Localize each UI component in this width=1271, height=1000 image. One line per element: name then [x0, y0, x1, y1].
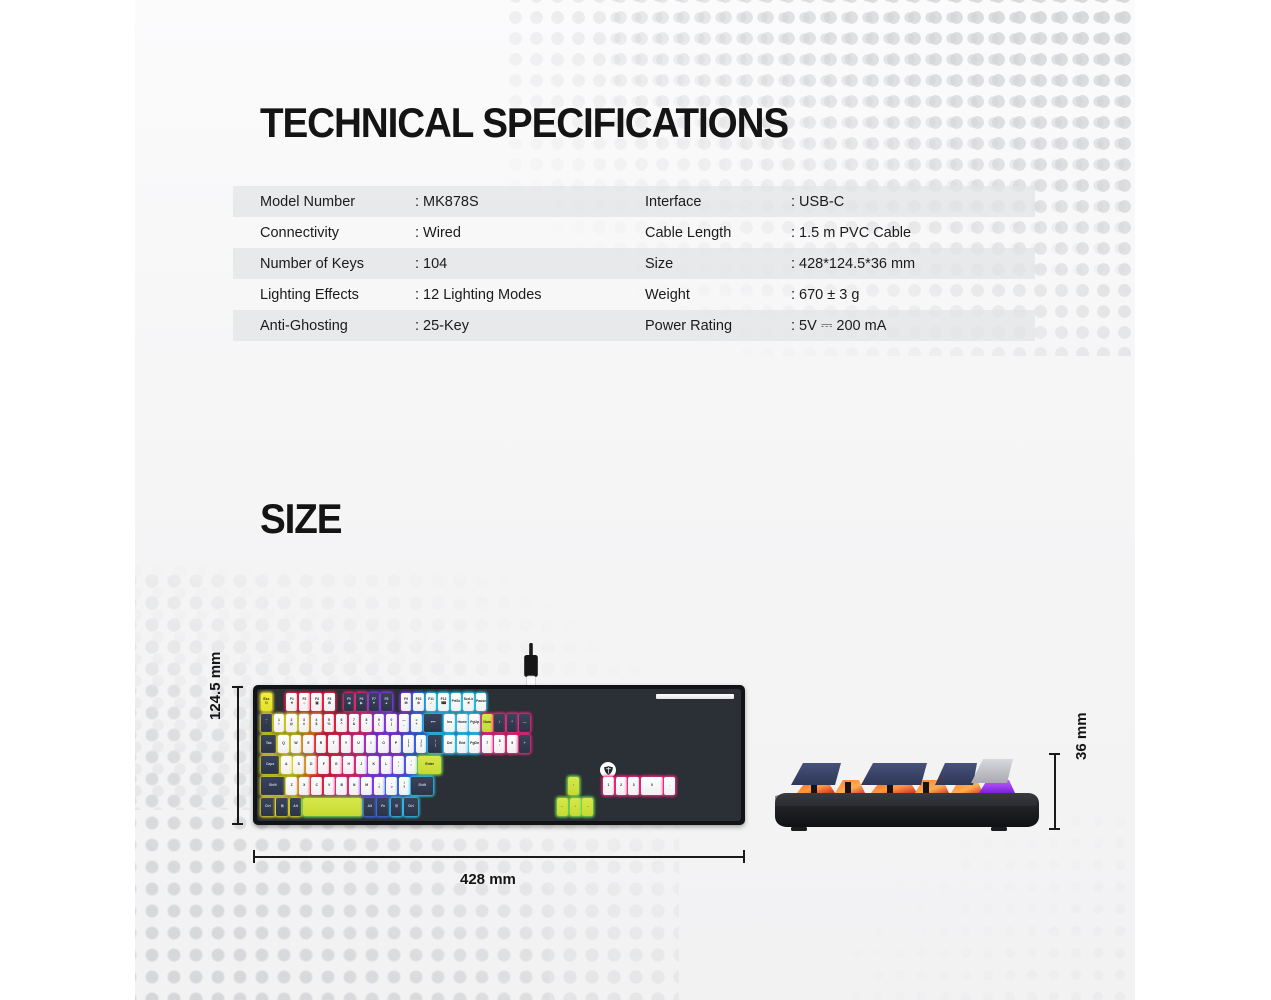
- keycap-legend: —: [523, 721, 526, 725]
- keycap-legend: J: [360, 763, 362, 767]
- numpad-key[interactable]: 1: [603, 777, 614, 795]
- keycap-sublegend: ▲: [385, 702, 388, 706]
- keycap-legend: +: [524, 742, 526, 746]
- keycap-sublegend: ✳: [467, 702, 470, 706]
- depth-dimension-cap-bottom: [1049, 828, 1060, 830]
- keycap[interactable]: /?: [399, 777, 410, 795]
- keycap[interactable]: 6^: [336, 714, 347, 732]
- keycap[interactable]: 7: [482, 735, 493, 753]
- keycap-legend: Alt: [293, 805, 298, 809]
- keyboard-row: ShiftZXCVBNM,<.>/?Shift: [261, 777, 433, 795]
- keycap-legend: 0: [651, 784, 653, 788]
- height-dimension-label: 124.5 mm: [207, 652, 224, 720]
- keycap[interactable]: 7&: [349, 714, 360, 732]
- keycap[interactable]: \|: [428, 735, 443, 753]
- keycap[interactable]: V: [324, 777, 335, 795]
- keycap[interactable]: PgUp: [469, 714, 480, 732]
- keycap[interactable]: ☰: [391, 798, 403, 816]
- keycap[interactable]: *: [507, 714, 518, 732]
- spec-label-left: Lighting Effects: [233, 287, 415, 303]
- keycap-legend: ☰: [395, 805, 398, 809]
- keycap-legend: Shift: [418, 784, 426, 788]
- keycap-legend: X: [303, 784, 305, 788]
- keycap-legend: G: [335, 763, 338, 767]
- keycap-legend: Fn: [381, 805, 385, 809]
- keycap-sublegend: %: [327, 723, 330, 727]
- keycap[interactable]: G: [331, 756, 342, 774]
- keycap-legend: Num: [483, 721, 491, 725]
- keycap-legend: E: [307, 742, 309, 746]
- keycap[interactable]: ⟵: [424, 714, 443, 732]
- keycap-sublegend: ⌨: [441, 702, 446, 706]
- keycap[interactable]: —_: [399, 714, 410, 732]
- keyboard-row: CapsASDFGHJKL;:'"Enter: [261, 756, 441, 774]
- height-dimension-line: [237, 686, 239, 825]
- keycap-legend: ←: [561, 805, 564, 809]
- keyboard-plate: Esc⎋F1☀F2☼F3▣F4✇F5◀F6▶F7▼F8▲F9✉F10⊘F11♪F…: [257, 689, 741, 821]
- keycap-legend: O: [382, 742, 385, 746]
- keycap-legend: Enter: [425, 763, 434, 767]
- product-spec-page: TECHNICAL SPECIFICATIONS SIZE Model Numb…: [0, 0, 1271, 1000]
- spec-label-right: Interface: [634, 194, 791, 210]
- keycap[interactable]: F6▶: [356, 693, 367, 711]
- specifications-table: Model Number: MK878SInterface: USB-CConn…: [233, 186, 1035, 341]
- keycap[interactable]: F12⌨: [438, 693, 449, 711]
- keycap-sublegend: ✇: [328, 702, 331, 706]
- spec-label-left: Connectivity: [233, 225, 415, 241]
- keycap-legend: U: [357, 742, 359, 746]
- spec-value-right: : 1.5 m PVC Cable: [791, 225, 1035, 241]
- keycap[interactable]: 4$: [311, 714, 322, 732]
- width-dimension-cap-right: [743, 850, 745, 863]
- keycap-sublegend: >: [391, 786, 393, 790]
- spec-value-right: : 5V ⎓ 200 mA: [791, 318, 1035, 334]
- keycap[interactable]: ScrLk✳: [463, 693, 474, 711]
- keycap-sublegend: (: [378, 723, 379, 727]
- keycap[interactable]: ]}: [416, 735, 427, 753]
- keycap-legend: I: [371, 742, 372, 746]
- keycap-legend: Q: [282, 742, 285, 746]
- content-panel: TECHNICAL SPECIFICATIONS SIZE Model Numb…: [135, 0, 1135, 1000]
- keycap[interactable]: F8▲: [381, 693, 392, 711]
- keycap-legend: K: [373, 763, 375, 767]
- spec-label-left: Anti-Ghosting: [233, 318, 415, 334]
- keycap-legend: Tab: [266, 742, 272, 746]
- keycap[interactable]: Ctrl: [261, 798, 275, 816]
- depth-dimension-line: [1054, 753, 1056, 830]
- keycap-sublegend: ↑: [499, 744, 501, 748]
- keycap[interactable]: Fn: [377, 798, 389, 816]
- height-dimension-cap-top: [232, 686, 243, 688]
- keycap[interactable]: 2@: [286, 714, 297, 732]
- keycap[interactable]: F10⊘: [413, 693, 424, 711]
- keycap[interactable]: Z: [286, 777, 297, 795]
- spec-value-right: : 428*124.5*36 mm: [791, 256, 1035, 272]
- spec-row: Anti-Ghosting: 25-KeyPower Rating: 5V ⎓ …: [233, 310, 1035, 341]
- keycap[interactable]: 9(: [374, 714, 385, 732]
- keycap[interactable]: S: [293, 756, 304, 774]
- keycap[interactable]: Esc⎋: [261, 693, 272, 711]
- keycap-legend: Pause: [476, 700, 486, 704]
- keycap-sublegend: ⊘: [417, 702, 420, 706]
- keycap[interactable]: H: [343, 756, 354, 774]
- keycap-legend: W: [294, 742, 297, 746]
- keycap[interactable]: X: [299, 777, 310, 795]
- keycap-legend: M: [365, 784, 368, 788]
- keycap[interactable]: Caps: [261, 756, 279, 774]
- keycap-legend: H: [348, 763, 350, 767]
- keycap[interactable]: P: [391, 735, 402, 753]
- spec-label-right: Size: [634, 256, 791, 272]
- keycap-sublegend: ▼: [372, 702, 375, 706]
- keycap-legend: PrtSc: [452, 700, 461, 704]
- spec-value-right: : USB-C: [791, 194, 1035, 210]
- keycap-legend: Shift: [269, 784, 277, 788]
- arrow-key[interactable]: →: [582, 798, 593, 816]
- keycap-legend: R: [320, 742, 322, 746]
- led-indicator-strip: [656, 694, 734, 699]
- keycap[interactable]: Ctrl: [404, 798, 418, 816]
- keycap-legend: →: [586, 805, 589, 809]
- keycap[interactable]: .>: [386, 777, 397, 795]
- keycap[interactable]: ⊞: [276, 798, 288, 816]
- keycap[interactable]: PrtSc: [451, 693, 462, 711]
- numpad-key[interactable]: 0: [641, 777, 663, 795]
- keycap[interactable]: ;:: [393, 756, 404, 774]
- keycap[interactable]: F5◀: [344, 693, 355, 711]
- keycap[interactable]: 3#: [299, 714, 310, 732]
- numpad-key[interactable]: 2: [616, 777, 627, 795]
- keyboard-row: TabQWERTYUIOP[{]}\|DelEndPgDn78↑9+: [261, 735, 530, 753]
- spec-value-left: : Wired: [415, 225, 634, 241]
- keycap[interactable]: Num: [482, 714, 493, 732]
- keycap-sublegend: ": [410, 765, 412, 769]
- spec-label-right: Power Rating: [634, 318, 791, 334]
- keycap-legend: 2: [620, 784, 622, 788]
- keycap[interactable]: T: [328, 735, 339, 753]
- keycap[interactable]: ~`: [261, 714, 272, 732]
- width-dimension-label: 428 mm: [460, 871, 516, 888]
- keycap-legend: D: [310, 763, 312, 767]
- keycap-legend: PgUp: [470, 721, 479, 725]
- keycap[interactable]: F: [318, 756, 329, 774]
- keycap[interactable]: N: [349, 777, 360, 795]
- spec-label-right: Weight: [634, 287, 791, 303]
- spec-value-right: : 670 ± 3 g: [791, 287, 1035, 303]
- keycap[interactable]: =+: [411, 714, 422, 732]
- keycap[interactable]: 1!: [274, 714, 285, 732]
- keycap[interactable]: W: [291, 735, 302, 753]
- keycap[interactable]: Del: [444, 735, 455, 753]
- keycap-sublegend: {: [408, 744, 409, 748]
- keycap-legend: Del: [447, 742, 452, 746]
- keycap-sublegend: ▶: [360, 702, 363, 706]
- keycap[interactable]: +: [519, 735, 530, 753]
- keycap-legend: C: [315, 784, 317, 788]
- keycap-legend: Z: [291, 784, 293, 788]
- keycap-legend: F: [323, 763, 325, 767]
- spec-label-right: Cable Length: [634, 225, 791, 241]
- keycap-sublegend: <: [378, 786, 380, 790]
- spec-row: Lighting Effects: 12 Lighting ModesWeigh…: [233, 279, 1035, 310]
- keycap[interactable]: F1☀: [286, 693, 297, 711]
- keycap-sublegend: ☼: [303, 702, 306, 706]
- keycap-legend: ↓: [574, 805, 576, 809]
- keycap-legend: V: [328, 784, 330, 788]
- keycap[interactable]: F2☼: [299, 693, 310, 711]
- keycap-legend: T: [332, 742, 334, 746]
- numpad-row: 1230.: [603, 777, 675, 795]
- keycap[interactable]: Shift: [261, 777, 285, 795]
- arrow-key[interactable]: ↑: [568, 777, 579, 795]
- keycap-sublegend: ☀: [290, 702, 293, 706]
- depth-dimension-cap-top: [1049, 753, 1060, 755]
- keycap-legend: 9: [511, 742, 513, 746]
- spec-row: Number of Keys: 104Size: 428*124.5*36 mm: [233, 248, 1035, 279]
- keycap[interactable]: L: [381, 756, 392, 774]
- keycap-legend: 3: [633, 784, 635, 788]
- keycap-sublegend: ▣: [315, 702, 318, 706]
- keycap[interactable]: U: [353, 735, 364, 753]
- keycap-sublegend: #: [303, 723, 305, 727]
- width-dimension-cap-left: [253, 850, 255, 863]
- keycap-sublegend: @: [290, 723, 293, 727]
- keycap-sublegend: $: [316, 723, 318, 727]
- keycap-legend: N: [353, 784, 355, 788]
- keycap[interactable]: C: [311, 777, 322, 795]
- keycap-legend: L: [385, 763, 387, 767]
- keycap-legend: P: [395, 742, 397, 746]
- keycap[interactable]: K: [368, 756, 379, 774]
- keycap[interactable]: 8*: [361, 714, 372, 732]
- keycap[interactable]: Alt: [290, 798, 302, 816]
- keycap-legend: *: [511, 721, 512, 725]
- keycap-sublegend: ✉: [405, 702, 408, 706]
- keyboard-row: ~`1!2@3#4$5%6^7&8*9(0)—_=+⟵InsHomePgUpNu…: [261, 714, 530, 732]
- keycap[interactable]: F11♪: [426, 693, 437, 711]
- keycap[interactable]: M: [361, 777, 372, 795]
- keycap-legend: ⟵: [431, 721, 436, 725]
- numpad-key[interactable]: 3: [628, 777, 639, 795]
- keycap-legend: .: [669, 784, 670, 788]
- keycap-sublegend: *: [366, 723, 367, 727]
- keyboard-side-view: [775, 745, 1045, 845]
- keycap[interactable]: Home: [457, 714, 468, 732]
- keycap[interactable]: —: [519, 714, 530, 732]
- keyboard-row: Esc⎋F1☀F2☼F3▣F4✇F5◀F6▶F7▼F8▲F9✉F10⊘F11♪F…: [261, 693, 486, 711]
- keycap[interactable]: O: [378, 735, 389, 753]
- spec-value-left: : 104: [415, 256, 634, 272]
- keycap[interactable]: 5%: [324, 714, 335, 732]
- spec-row: Connectivity: WiredCable Length: 1.5 m P…: [233, 217, 1035, 248]
- keycap-sublegend: +: [415, 723, 417, 727]
- keycap[interactable]: Pause: [476, 693, 487, 711]
- keycap[interactable]: F3▣: [311, 693, 322, 711]
- keycap[interactable]: Tab: [261, 735, 276, 753]
- size-heading: SIZE: [260, 495, 341, 543]
- keycap-legend: 1: [608, 784, 610, 788]
- keyboard-top-view: Esc⎋F1☀F2☼F3▣F4✇F5◀F6▶F7▼F8▲F9✉F10⊘F11♪F…: [253, 685, 745, 825]
- keycap[interactable]: B: [336, 777, 347, 795]
- keycap-sublegend: ♪: [430, 702, 432, 706]
- spec-label-left: Number of Keys: [233, 256, 415, 272]
- keycap-legend: Caps: [266, 763, 274, 767]
- arrow-key[interactable]: ↓: [570, 798, 581, 816]
- keycap-sublegend: _: [403, 723, 405, 727]
- keycap[interactable]: Shift: [411, 777, 433, 795]
- keycap[interactable]: A: [281, 756, 292, 774]
- keycap-sublegend: }: [420, 744, 421, 748]
- keycap-legend: Home: [457, 721, 466, 725]
- keycap-legend: Ctrl: [265, 805, 271, 809]
- keycap[interactable]: E: [303, 735, 314, 753]
- keycap-legend: Alt: [367, 805, 372, 809]
- keycap-sublegend: ◀: [348, 702, 351, 706]
- depth-dimension-label: 36 mm: [1073, 712, 1090, 760]
- spec-value-left: : MK878S: [415, 194, 634, 210]
- keycap[interactable]: 0): [386, 714, 397, 732]
- height-dimension-cap-bottom: [232, 823, 243, 825]
- arrow-key[interactable]: ←: [557, 798, 568, 816]
- keycap[interactable]: F7▼: [369, 693, 380, 711]
- keycap-legend: ⊞: [281, 805, 284, 809]
- spec-value-left: : 25-Key: [415, 318, 634, 334]
- keycap-sublegend: ): [391, 723, 392, 727]
- keycap-legend: Ctrl: [408, 805, 414, 809]
- keycap[interactable]: F9✉: [401, 693, 412, 711]
- keycap-sublegend: `: [266, 723, 267, 727]
- keycap[interactable]: D: [306, 756, 317, 774]
- keycap-legend: Ins: [447, 721, 452, 725]
- keycap[interactable]: 8↑: [494, 735, 505, 753]
- keycap-legend: A: [285, 763, 287, 767]
- numpad-key[interactable]: .: [664, 777, 675, 795]
- keycap-sublegend: &: [353, 723, 355, 727]
- keycap-sublegend: !: [278, 723, 279, 727]
- keycap-legend: S: [298, 763, 300, 767]
- keycap[interactable]: Q: [278, 735, 289, 753]
- keycap[interactable]: Enter: [418, 756, 441, 774]
- technical-specifications-heading: TECHNICAL SPECIFICATIONS: [260, 99, 788, 147]
- brand-shield-logo-icon: [600, 762, 616, 778]
- spec-row: Model Number: MK878SInterface: USB-C: [233, 186, 1035, 217]
- keycap[interactable]: J: [356, 756, 367, 774]
- keycap[interactable]: '": [406, 756, 417, 774]
- keycap-sublegend: ⎋: [265, 702, 268, 706]
- arrow-up-key-wrap: ↑: [568, 777, 579, 795]
- arrow-key-cluster: ←↓→: [557, 798, 593, 816]
- keycap[interactable]: PgDn: [469, 735, 480, 753]
- keycap[interactable]: /: [494, 714, 505, 732]
- keycap-sublegend: ?: [403, 786, 405, 790]
- keycap-legend: PgDn: [470, 742, 479, 746]
- keycap-sublegend: |: [435, 744, 436, 748]
- keycap[interactable]: R: [316, 735, 327, 753]
- keycap-legend: /: [499, 721, 500, 725]
- keycap[interactable]: I: [366, 735, 377, 753]
- keycap[interactable]: ,<: [374, 777, 385, 795]
- keycap[interactable]: Y: [341, 735, 352, 753]
- keycap-legend: Y: [345, 742, 347, 746]
- keycap-sublegend: :: [398, 765, 399, 769]
- keycap[interactable]: [{: [403, 735, 414, 753]
- keycap-legend: 7: [486, 742, 488, 746]
- keycap[interactable]: End: [457, 735, 468, 753]
- keycap[interactable]: Ins: [444, 714, 455, 732]
- keycap[interactable]: F4✇: [324, 693, 335, 711]
- keycap-legend: B: [340, 784, 342, 788]
- spec-label-left: Model Number: [233, 194, 415, 210]
- keyboard-row: Ctrl⊞AltAltFn☰Ctrl: [261, 798, 418, 816]
- keycap[interactable]: [303, 798, 362, 816]
- keycap-legend: ↑: [573, 784, 575, 788]
- keycap-sublegend: ^: [340, 723, 342, 727]
- width-dimension-line: [253, 856, 745, 858]
- spec-value-left: : 12 Lighting Modes: [415, 287, 634, 303]
- keycap[interactable]: 9: [507, 735, 518, 753]
- keycap[interactable]: Alt: [364, 798, 376, 816]
- keycap-legend: End: [459, 742, 465, 746]
